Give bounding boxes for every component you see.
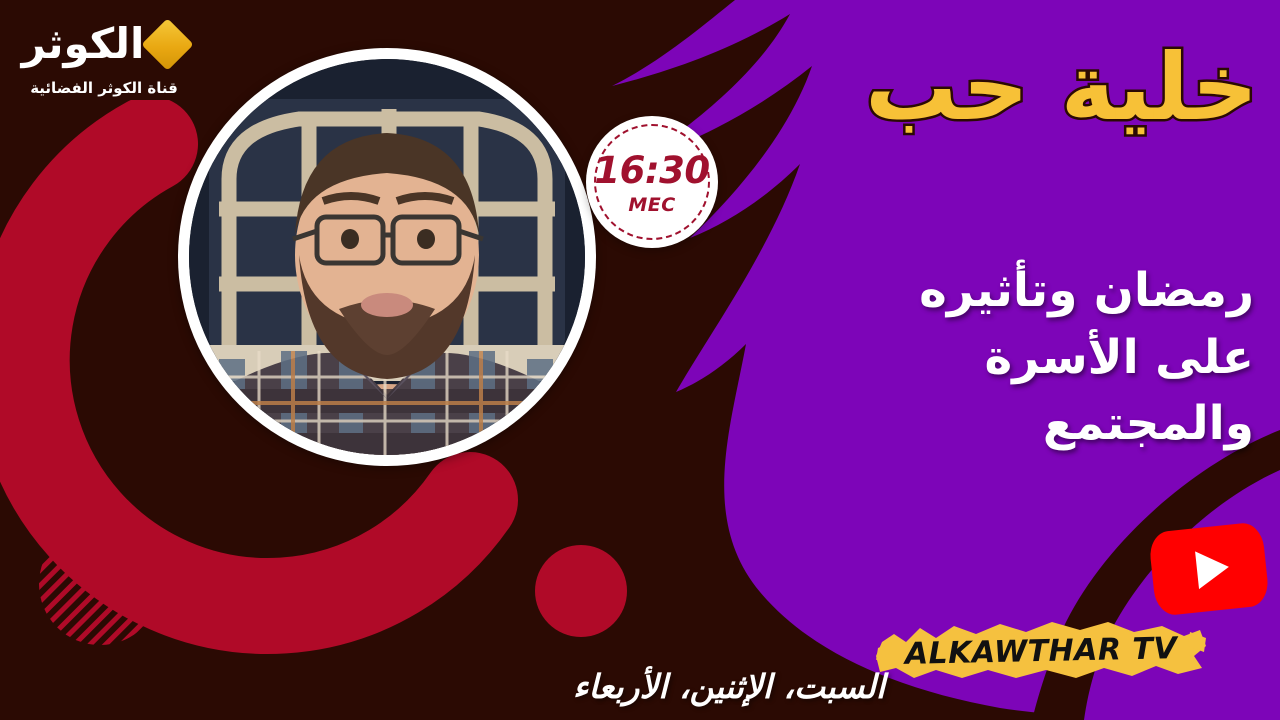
logo-mark-row: الكوثر [14, 16, 194, 72]
airtime-value: 16:30 [594, 152, 709, 189]
youtube-icon-body [1148, 521, 1270, 616]
channel-brand-badge: ALKAWTHAR TV [876, 612, 1206, 686]
striped-circle-decoration [38, 522, 162, 646]
airtime-badge: 16:30 MEC [586, 116, 718, 248]
play-triangle-icon [1195, 548, 1231, 589]
episode-description: رمضان وتأثيره على الأسرة والمجتمع [774, 258, 1254, 458]
episode-line-1: رمضان وتأثيره [919, 263, 1254, 318]
host-portrait-photo [189, 59, 585, 455]
schedule-days: السبت، الإثنين، الأربعاء [573, 667, 885, 706]
airtime-timezone: MEC [628, 196, 675, 215]
program-title: خلية حب [788, 40, 1258, 137]
channel-logo[interactable]: الكوثر قناة الكوثر الفضائية [14, 16, 194, 97]
youtube-play-icon[interactable] [1148, 521, 1270, 616]
channel-logo-subtitle: قناة الكوثر الفضائية [14, 79, 194, 97]
broadcast-promo-card: 16:30 MEC الكوثر قناة الكوثر الفضائية خل… [0, 0, 1280, 720]
episode-line-2: على الأسرة والمجتمع [774, 325, 1254, 458]
logo-wordmark: الكوثر [22, 23, 145, 65]
crimson-dot-decoration [535, 545, 627, 637]
host-portrait-frame [178, 48, 596, 466]
diamond-icon [142, 18, 194, 70]
channel-brand-label: ALKAWTHAR TV [875, 611, 1206, 692]
